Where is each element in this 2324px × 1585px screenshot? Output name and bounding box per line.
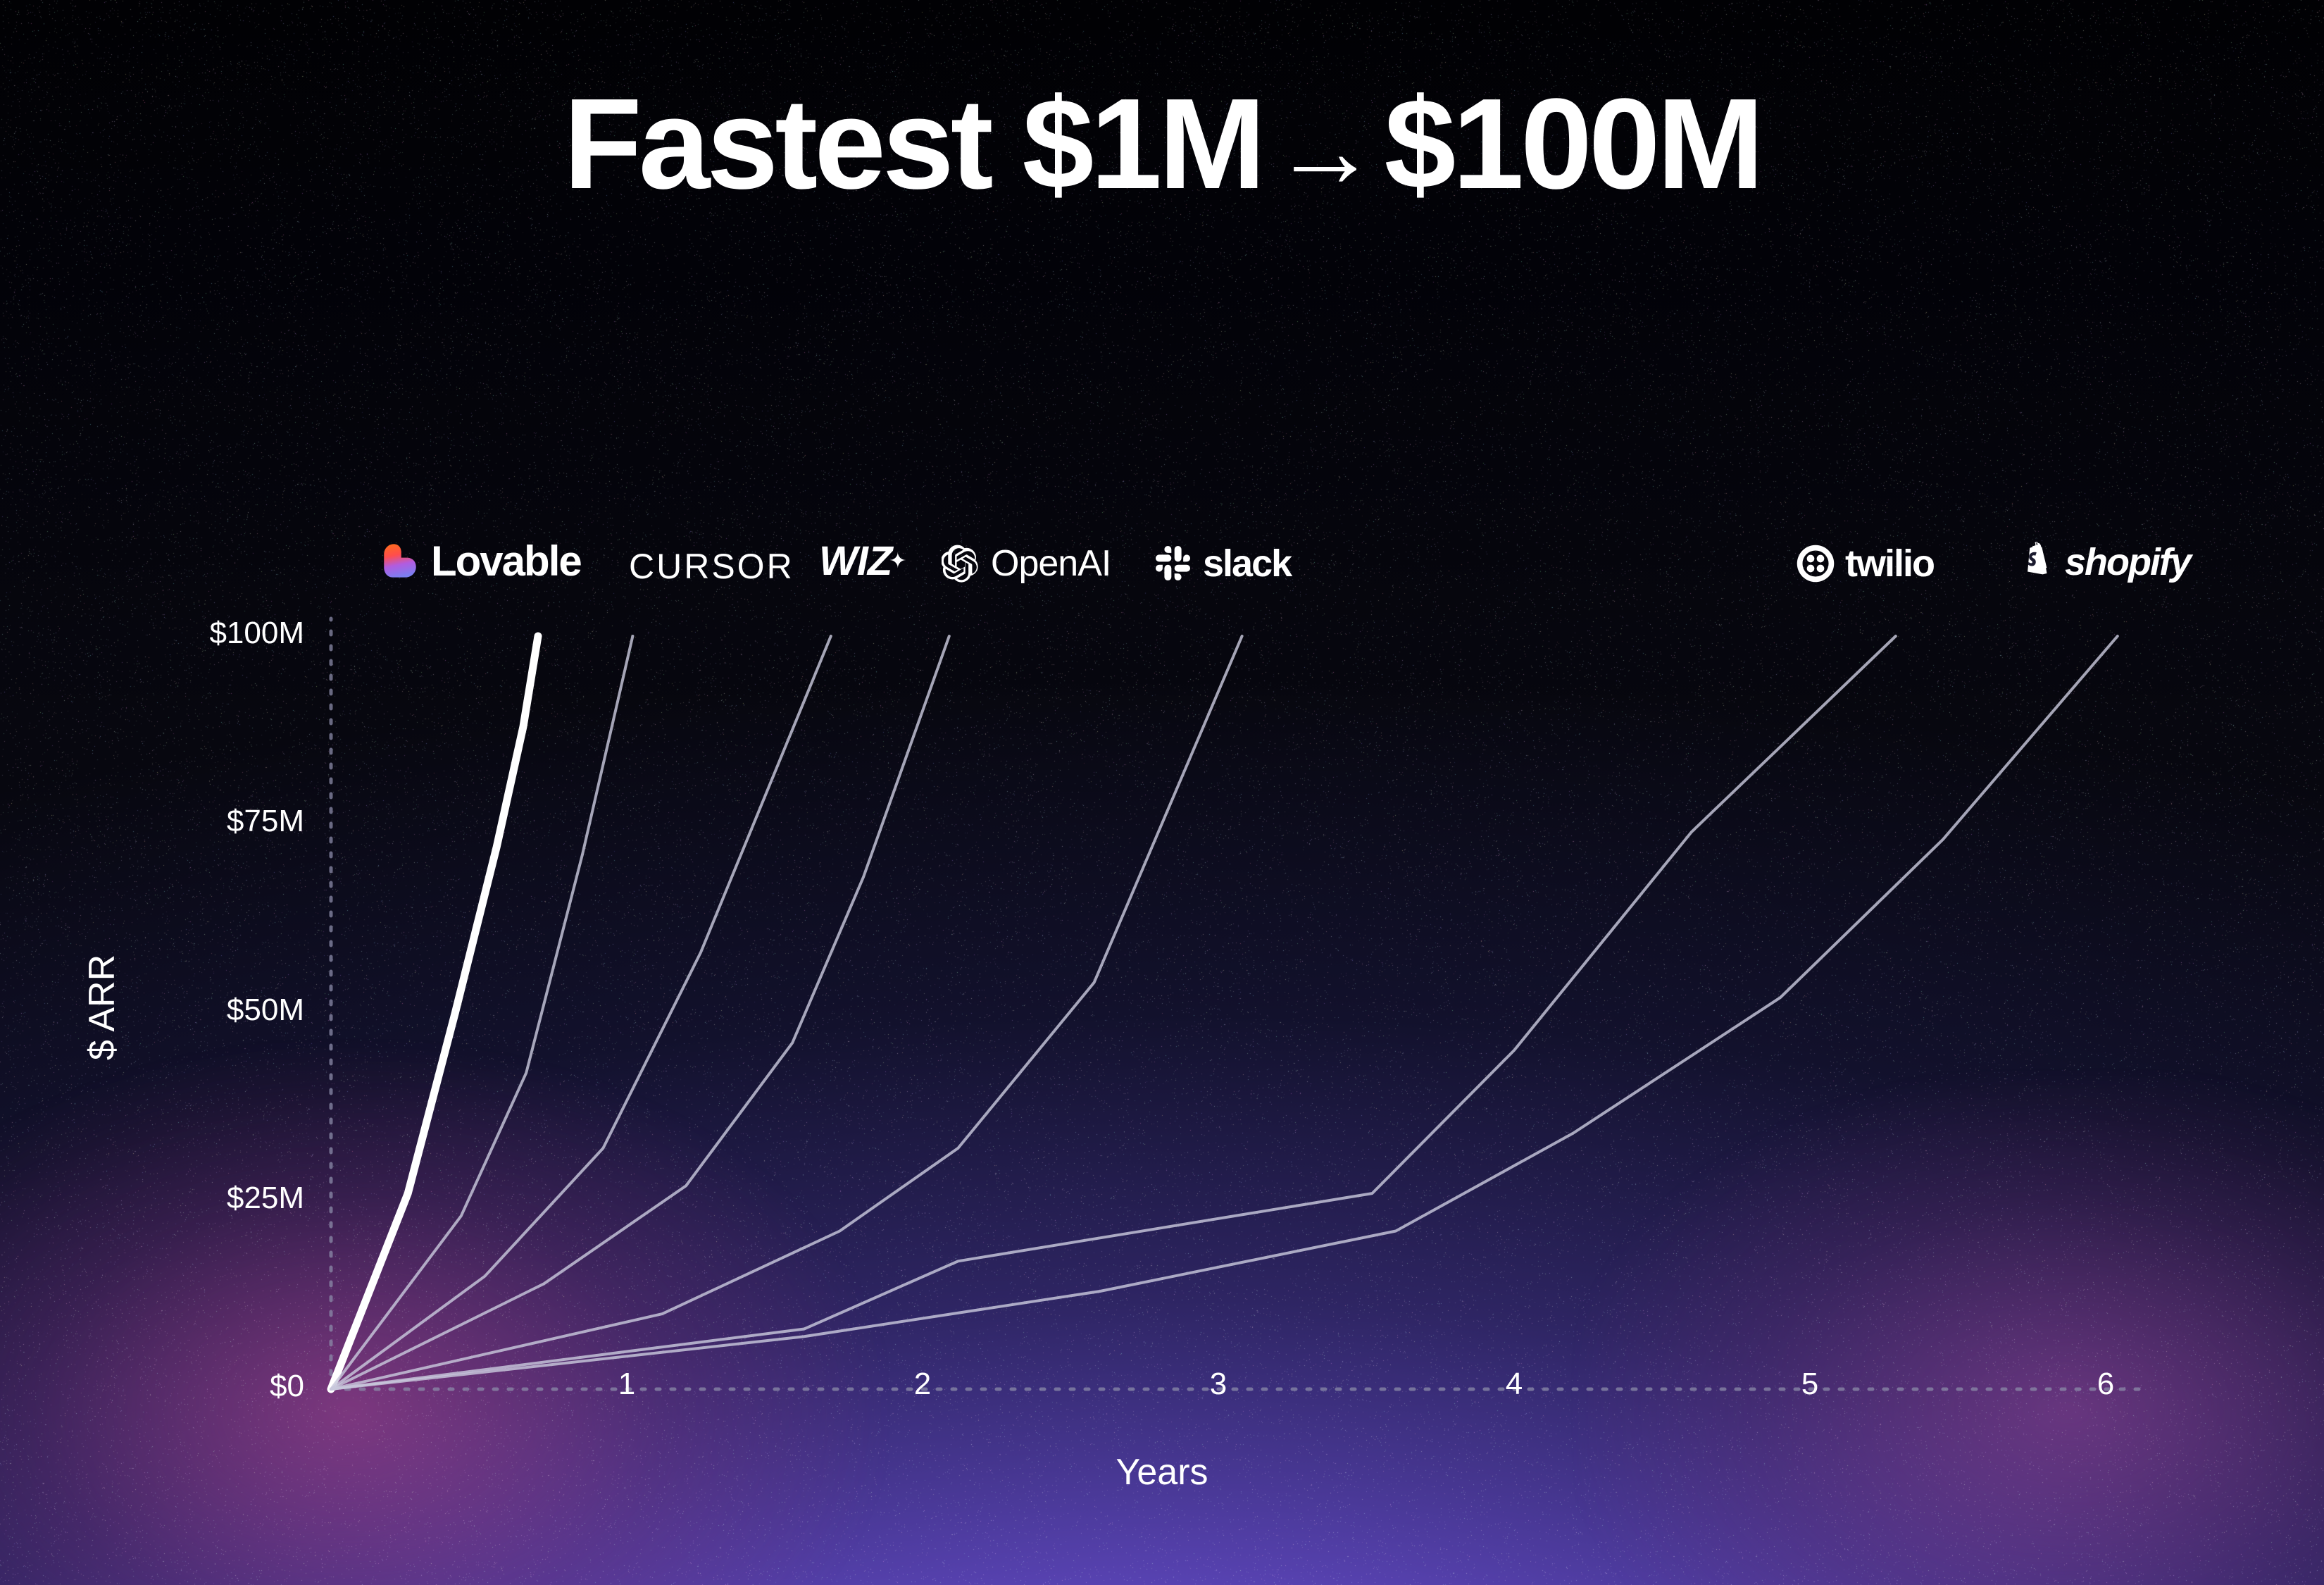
x-tick-label-4: 5 xyxy=(1775,1367,1845,1402)
y-tick-label-4: $100M xyxy=(209,616,304,651)
x-axis-title: Years xyxy=(0,1451,2324,1493)
x-tick-label-0: 1 xyxy=(592,1367,662,1402)
slide-canvas: Fastest $1M→$100M Lovable CURSOR xyxy=(0,0,2324,1585)
y-tick-label-0: $0 xyxy=(270,1369,304,1404)
y-tick-label-3: $75M xyxy=(227,804,304,839)
x-tick-label-2: 3 xyxy=(1183,1367,1254,1402)
x-tick-label-3: 4 xyxy=(1479,1367,1549,1402)
x-tick-label-1: 2 xyxy=(887,1367,958,1402)
series-line-shopify xyxy=(331,636,2118,1389)
series-line-openai xyxy=(331,636,949,1389)
y-axis-title: $ ARR xyxy=(81,955,123,1060)
y-tick-label-2: $50M xyxy=(227,993,304,1028)
series-line-lovable xyxy=(331,636,538,1389)
series-line-twilio xyxy=(331,636,1896,1389)
series-line-slack xyxy=(331,636,1242,1389)
y-tick-label-1: $25M xyxy=(227,1181,304,1216)
x-tick-label-5: 6 xyxy=(2070,1367,2141,1402)
arr-growth-line-chart xyxy=(0,0,2324,1585)
series-line-wiz xyxy=(331,636,831,1389)
